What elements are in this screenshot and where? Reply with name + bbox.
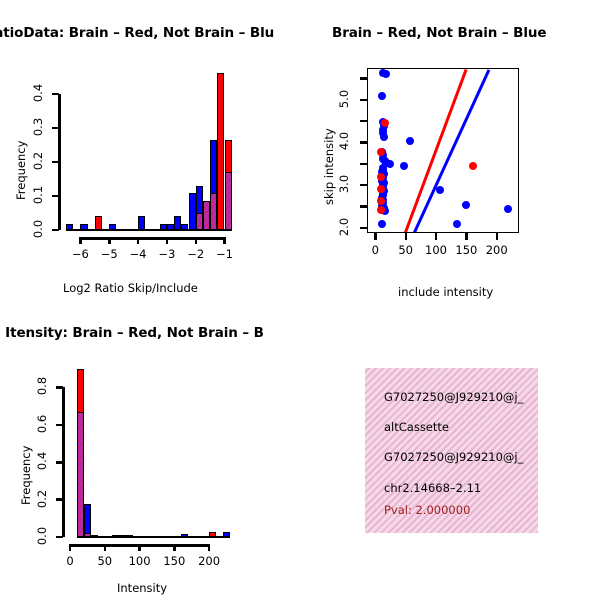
x-axis-tick — [435, 233, 438, 240]
x-axis-tick — [108, 237, 111, 244]
x-axis-tick — [223, 237, 226, 244]
x-axis-tick-label: −6 — [64, 247, 96, 261]
x-axis-tick — [173, 544, 176, 551]
x-axis-tick — [465, 233, 468, 240]
y-axis-tick-label: 3.0 — [337, 170, 351, 198]
info-box: G7027250@J929210@j_ altCassette G7027250… — [365, 368, 538, 533]
y-axis-tick — [56, 536, 63, 539]
x-axis-tick-label: 50 — [89, 554, 121, 568]
x-axis-tick-label: −4 — [122, 247, 154, 261]
y-axis-tick-label: 0.3 — [31, 113, 45, 141]
y-axis-tick-label: 4.0 — [337, 127, 351, 155]
y-axis-tick-label: 0.0 — [35, 522, 49, 550]
y-axis-tick — [360, 77, 367, 80]
y-axis-tick — [360, 141, 367, 144]
y-axis-tick-label: 0.0 — [31, 215, 45, 243]
y-axis-tick-label: 0.4 — [35, 447, 49, 475]
x-axis-tick-label: 150 — [450, 243, 482, 257]
y-axis-tick — [52, 229, 59, 232]
panel-ratio-histogram: RatioData: Brain – Red, Not Brain – Blu … — [0, 0, 300, 300]
y-axis-tick — [56, 424, 63, 427]
y-axis-tick — [360, 227, 367, 230]
x-axis-tick — [104, 544, 107, 551]
y-axis-tick — [52, 127, 59, 130]
ratio-histogram-axes: 0.00.10.20.30.4−6−5−4−3−2−1 — [0, 0, 300, 300]
y-axis-tick-label: 5.0 — [337, 85, 351, 113]
panel-intensity-histogram: ne Itensity: Brain – Red, Not Brain – B … — [0, 300, 300, 600]
x-axis-tick-label: 200 — [481, 243, 513, 257]
panel-info: G7027250@J929210@j_ altCassette G7027250… — [300, 300, 600, 600]
intensity-histogram-axes: 0.00.20.40.60.8050100150200 — [0, 300, 300, 600]
x-axis-tick — [496, 233, 499, 240]
x-axis-tick-label: −1 — [209, 247, 241, 261]
x-axis-tick-label: −2 — [180, 247, 212, 261]
y-axis-tick — [360, 99, 367, 102]
y-axis-tick-label: 0.2 — [35, 485, 49, 513]
x-axis-tick-label: −3 — [151, 247, 183, 261]
info-line-pval: Pval: 2.000000 — [384, 503, 470, 517]
x-axis-tick-label: 0 — [359, 243, 391, 257]
x-axis-line — [80, 237, 224, 240]
y-axis-tick-label: 0.8 — [35, 372, 49, 400]
x-axis-tick — [195, 237, 198, 244]
x-axis-tick-label: 100 — [124, 554, 156, 568]
info-line-probe-id: G7027250@J929210@j_ — [384, 450, 523, 464]
y-axis-tick — [360, 120, 367, 123]
x-axis-tick — [405, 233, 408, 240]
x-axis-tick — [166, 237, 169, 244]
x-axis-tick-label: 150 — [158, 554, 190, 568]
info-line-event-type: altCassette — [384, 420, 449, 434]
x-axis-tick-label: −5 — [93, 247, 125, 261]
x-axis-tick — [69, 544, 72, 551]
x-axis-tick-label: 100 — [420, 243, 452, 257]
y-axis-tick-label: 0.1 — [31, 181, 45, 209]
y-axis-tick — [56, 386, 63, 389]
y-axis-tick — [52, 93, 59, 96]
x-axis-tick — [374, 233, 377, 240]
x-axis-tick-label: 0 — [54, 554, 86, 568]
y-axis-tick — [52, 161, 59, 164]
x-axis-tick — [138, 544, 141, 551]
y-axis-tick — [360, 184, 367, 187]
y-axis-tick — [52, 195, 59, 198]
y-axis-tick — [360, 205, 367, 208]
scatter-axes: 2.03.04.05.0050100150200 — [300, 0, 600, 300]
x-axis-tick — [208, 544, 211, 551]
x-axis-tick — [137, 237, 140, 244]
info-line-gene-id: G7027250@J929210@j_ — [384, 390, 523, 404]
x-axis-tick-label: 200 — [193, 554, 225, 568]
panel-intensity-scatter: Brain – Red, Not Brain – Blue skip inten… — [300, 0, 600, 300]
y-axis-tick-label: 0.6 — [35, 410, 49, 438]
y-axis-tick — [360, 163, 367, 166]
info-line-coordinates: chr2.14668–2.11 — [384, 481, 481, 495]
y-axis-tick — [56, 461, 63, 464]
x-axis-tick — [79, 237, 82, 244]
x-axis-tick-label: 50 — [390, 243, 422, 257]
y-axis-tick-label: 2.0 — [337, 213, 351, 241]
y-axis-tick — [56, 498, 63, 501]
y-axis-tick-label: 0.4 — [31, 79, 45, 107]
y-axis-tick-label: 0.2 — [31, 147, 45, 175]
